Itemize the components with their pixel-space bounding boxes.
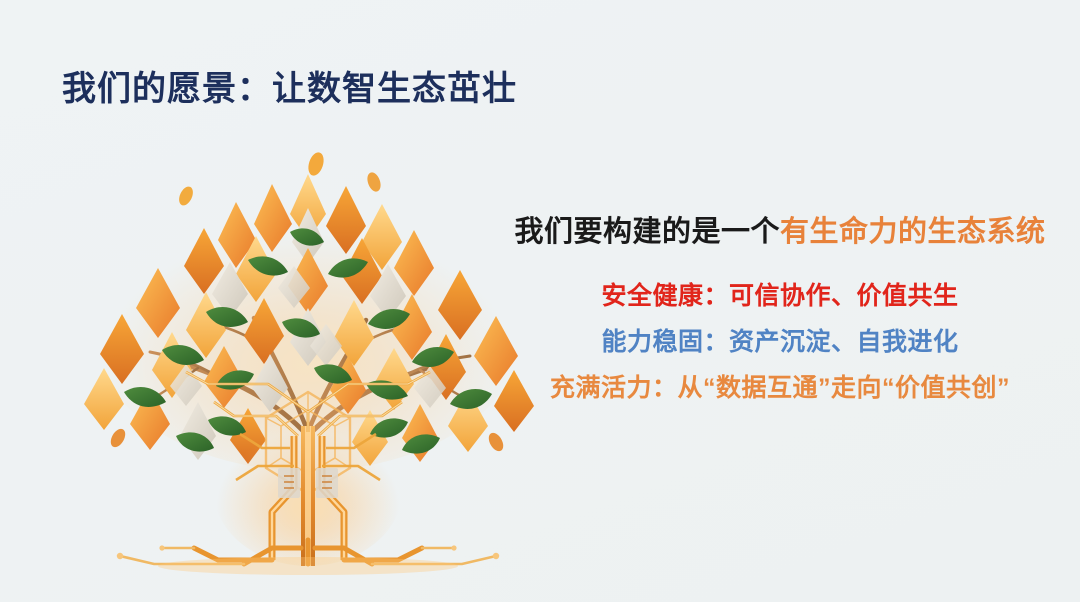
tree-graphic [58, 136, 558, 576]
pillar-item-full-vitality: 充满活力：从“数据互通”走向“价值共创” [500, 376, 1060, 401]
pillar-list: 安全健康：可信协作、价值共生 能力稳固：资产沉淀、自我进化 充满活力：从“数据互… [500, 284, 1060, 401]
headline: 我们要构建的是一个有生命力的生态系统 [500, 214, 1060, 250]
headline-plain-text: 我们要构建的是一个 [514, 216, 780, 248]
tree-illustration [58, 136, 558, 576]
message-block: 我们要构建的是一个有生命力的生态系统 安全健康：可信协作、价值共生 能力稳固：资… [500, 214, 1060, 401]
slide-root: 我们的愿景：让数智生态茁壮 [0, 0, 1080, 602]
headline-accent-text: 有生命力的生态系统 [780, 216, 1046, 248]
pillar-item-capability-stable: 能力稳固：资产沉淀、自我进化 [500, 330, 1060, 355]
page-title: 我们的愿景：让数智生态茁壮 [62, 61, 517, 110]
pillar-item-safe-health: 安全健康：可信协作、价值共生 [500, 284, 1060, 309]
